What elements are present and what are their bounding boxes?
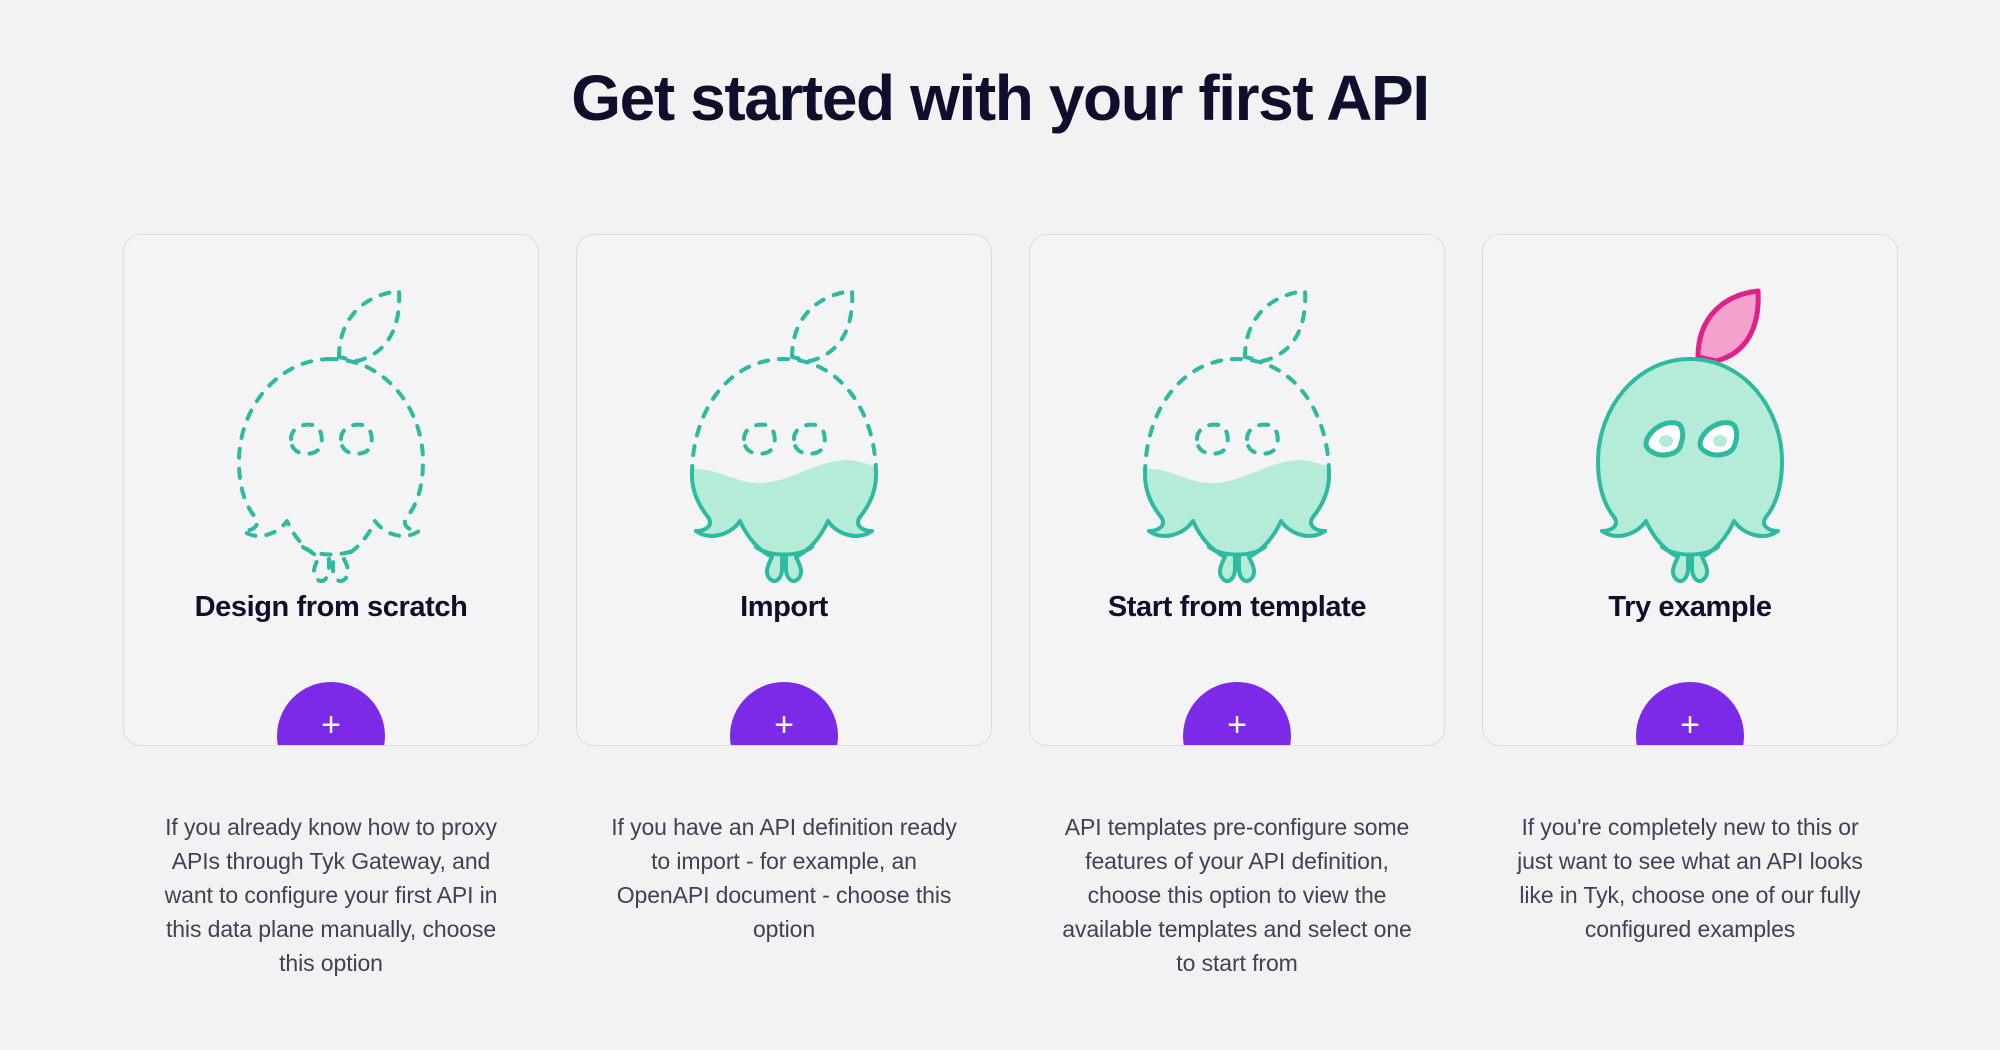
card-description: If you have an API definition ready to i…: [606, 810, 962, 946]
plus-icon: +: [1680, 708, 1700, 742]
card-title: Design from scratch: [195, 591, 468, 624]
page-title: Get started with your first API: [0, 62, 2000, 136]
get-started-page: Get started with your first API: [0, 0, 2000, 1050]
mascot-full-fill: [1550, 269, 1830, 589]
plus-icon: +: [321, 708, 341, 742]
card-try-example[interactable]: Try example +: [1482, 234, 1898, 746]
card-description: If you're completely new to this or just…: [1512, 810, 1868, 946]
mascot-partial-fill: [1097, 269, 1377, 589]
plus-icon: +: [774, 708, 794, 742]
leaf-icon: [1698, 291, 1758, 361]
card-title: Start from template: [1108, 591, 1366, 624]
mascot-partial-fill: [644, 269, 924, 589]
add-button-design-from-scratch[interactable]: +: [277, 682, 385, 746]
card-column-try-example: Try example + If you're completely new t…: [1482, 234, 1898, 980]
card-description: API templates pre-configure some feature…: [1059, 810, 1415, 980]
card-column-start-from-template: Start from template + API templates pre-…: [1029, 234, 1445, 980]
card-design-from-scratch[interactable]: Design from scratch +: [123, 234, 539, 746]
card-title: Import: [740, 591, 828, 624]
card-description: If you already know how to proxy APIs th…: [153, 810, 509, 980]
mascot-outline: [191, 269, 471, 589]
card-title: Try example: [1608, 591, 1771, 624]
card-import[interactable]: Import +: [576, 234, 992, 746]
plus-icon: +: [1227, 708, 1247, 742]
add-button-try-example[interactable]: +: [1636, 682, 1744, 746]
card-column-import: Import + If you have an API definition r…: [576, 234, 992, 980]
add-button-import[interactable]: +: [730, 682, 838, 746]
card-start-from-template[interactable]: Start from template +: [1029, 234, 1445, 746]
card-grid: Design from scratch + If you already kno…: [123, 234, 1901, 980]
add-button-start-from-template[interactable]: +: [1183, 682, 1291, 746]
card-column-design-from-scratch: Design from scratch + If you already kno…: [123, 234, 539, 980]
